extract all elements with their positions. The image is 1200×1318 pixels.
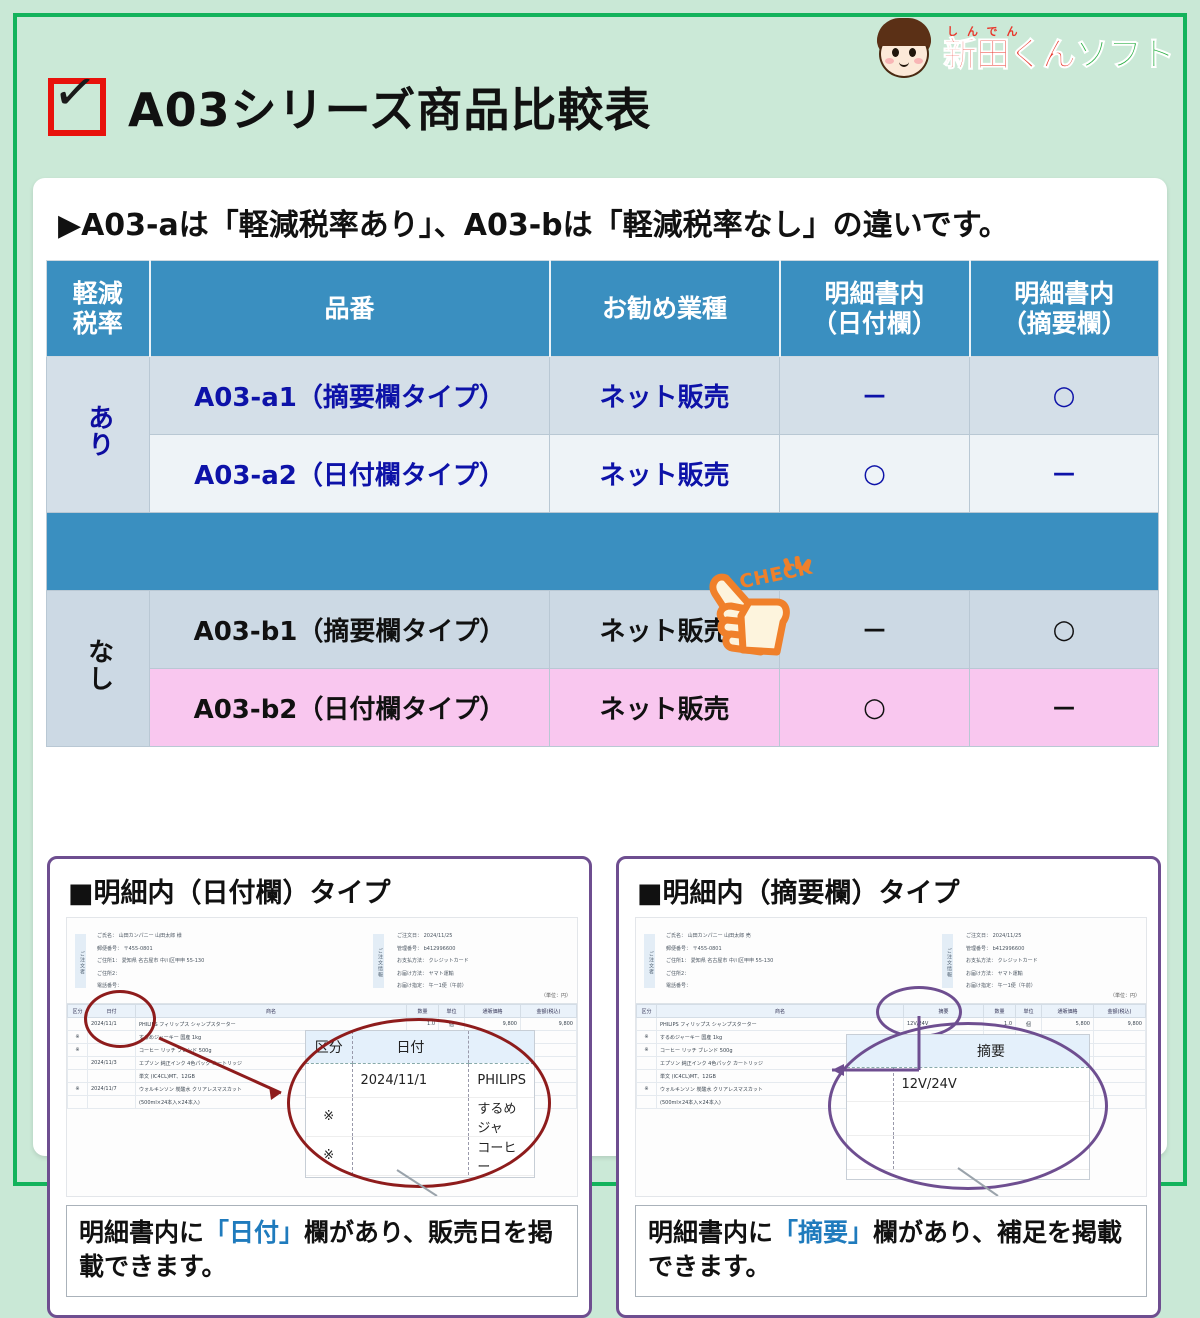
callout-circle-zoom [287, 1018, 551, 1188]
cell-model: A03-b2（日付欄タイプ） [150, 669, 550, 747]
panel-summary-type: ■明細内（摘要欄）タイプ ご注文者 ご氏名： 山田カンパニー 山田太郎 売 郵便… [616, 856, 1161, 1318]
table-group-divider [47, 513, 1159, 591]
doc-customer-info: ご氏名： 山田カンパニー 山田太郎 売 郵便番号： 〒455-0801 ご住所1… [666, 930, 773, 993]
table-row[interactable]: A03-a2（日付欄タイプ） ネット販売 ○ － [47, 435, 1159, 513]
cell-industry: ネット販売 [550, 669, 780, 747]
doc-side-label-customer: ご注文者 [644, 934, 655, 988]
cell-date: ○ [780, 435, 970, 513]
group-label-nashi: なし [47, 591, 150, 747]
cell-summary: － [970, 435, 1159, 513]
cell-model: A03-a1（摘要欄タイプ） [150, 357, 550, 435]
cell-summary: ○ [970, 591, 1159, 669]
panel-caption: 明細書内に「日付」欄があり、販売日を掲載できます。 [66, 1205, 578, 1297]
callout-circle-zoom [828, 1022, 1108, 1190]
title-row: ✓ A03シリーズ商品比較表 [48, 74, 651, 140]
brand-name-kun: くん [1009, 38, 1075, 72]
table-row-highlighted[interactable]: A03-b2（日付欄タイプ） ネット販売 ○ － [47, 669, 1159, 747]
cell-summary: ○ [970, 357, 1159, 435]
panel-title: ■明細内（摘要欄）タイプ [637, 871, 960, 910]
callout-circle-source [84, 990, 156, 1048]
brand-wordmark: しんでん 新田 くん ソフト [943, 26, 1174, 72]
cell-industry: ネット販売 [550, 435, 780, 513]
panel-caption: 明細書内に「摘要」欄があり、補足を掲載できます。 [635, 1205, 1147, 1297]
checkmark-icon: ✓ [48, 78, 106, 136]
cell-date: － [780, 357, 970, 435]
boy-face-icon [873, 18, 935, 80]
cell-date: － [780, 591, 970, 669]
doc-side-label-order: ご注文情報 [373, 934, 384, 988]
cell-industry: ネット販売 [550, 357, 780, 435]
cell-model: A03-a2（日付欄タイプ） [150, 435, 550, 513]
th-date-column: 明細書内（日付欄） [780, 261, 970, 357]
page-header: しんでん 新田 くん ソフト ✓ A03シリーズ商品比較表 [0, 0, 1200, 175]
document-preview: ご注文者 ご氏名： 山田カンパニー 山田太郎 様 郵便番号： 〒455-0801… [66, 917, 578, 1197]
panel-title: ■明細内（日付欄）タイプ [68, 871, 391, 910]
brand-name-soft: ソフト [1075, 38, 1174, 72]
table-row[interactable]: なし A03-b1（摘要欄タイプ） ネット販売 － ○ [47, 591, 1159, 669]
brand-logo: しんでん 新田 くん ソフト [873, 18, 1174, 80]
doc-unit-note: （単位：円） [541, 992, 571, 999]
table-header-row: 軽減税率 品番 お勧め業種 明細書内（日付欄） 明細書内（摘要欄） [47, 261, 1159, 357]
doc-order-info: ご注文日： 2024/11/25 管理番号： b412996600 お支払方法：… [397, 930, 469, 993]
table-row[interactable]: あり A03-a1（摘要欄タイプ） ネット販売 － ○ [47, 357, 1159, 435]
page-title-text: A03シリーズ商品比較表 [128, 83, 651, 137]
group-label-ari: あり [47, 357, 150, 513]
main-card: ▶A03-aは「軽減税率あり」、A03-bは「軽減税率なし」の違いです。 軽減税… [33, 178, 1167, 1156]
brand-name-kanji: 新田 [943, 38, 1009, 72]
cell-summary: － [970, 669, 1159, 747]
subtitle: ▶A03-aは「軽減税率あり」、A03-bは「軽減税率なし」の違いです。 [58, 200, 1009, 244]
cell-industry: ネット販売 [550, 591, 780, 669]
document-preview: ご注文者 ご氏名： 山田カンパニー 山田太郎 売 郵便番号： 〒455-0801… [635, 917, 1147, 1197]
doc-customer-info: ご氏名： 山田カンパニー 山田太郎 様 郵便番号： 〒455-0801 ご住所1… [97, 930, 204, 993]
doc-unit-note: （単位：円） [1110, 992, 1140, 999]
comparison-table: 軽減税率 品番 お勧め業種 明細書内（日付欄） 明細書内（摘要欄） あり A03… [46, 260, 1159, 747]
cell-date: ○ [780, 669, 970, 747]
th-industry: お勧め業種 [550, 261, 780, 357]
doc-order-info: ご注文日： 2024/11/25 管理番号： b412996600 お支払方法：… [966, 930, 1038, 993]
cell-model: A03-b1（摘要欄タイプ） [150, 591, 550, 669]
th-tax-rate: 軽減税率 [47, 261, 150, 357]
th-model-number: 品番 [150, 261, 550, 357]
doc-side-label-order: ご注文情報 [942, 934, 953, 988]
doc-side-label-customer: ご注文者 [75, 934, 86, 988]
page-title: A03シリーズ商品比較表 [128, 74, 651, 140]
panel-date-type: ■明細内（日付欄）タイプ ご注文者 ご氏名： 山田カンパニー 山田太郎 様 郵便… [47, 856, 592, 1318]
th-summary-column: 明細書内（摘要欄） [970, 261, 1159, 357]
